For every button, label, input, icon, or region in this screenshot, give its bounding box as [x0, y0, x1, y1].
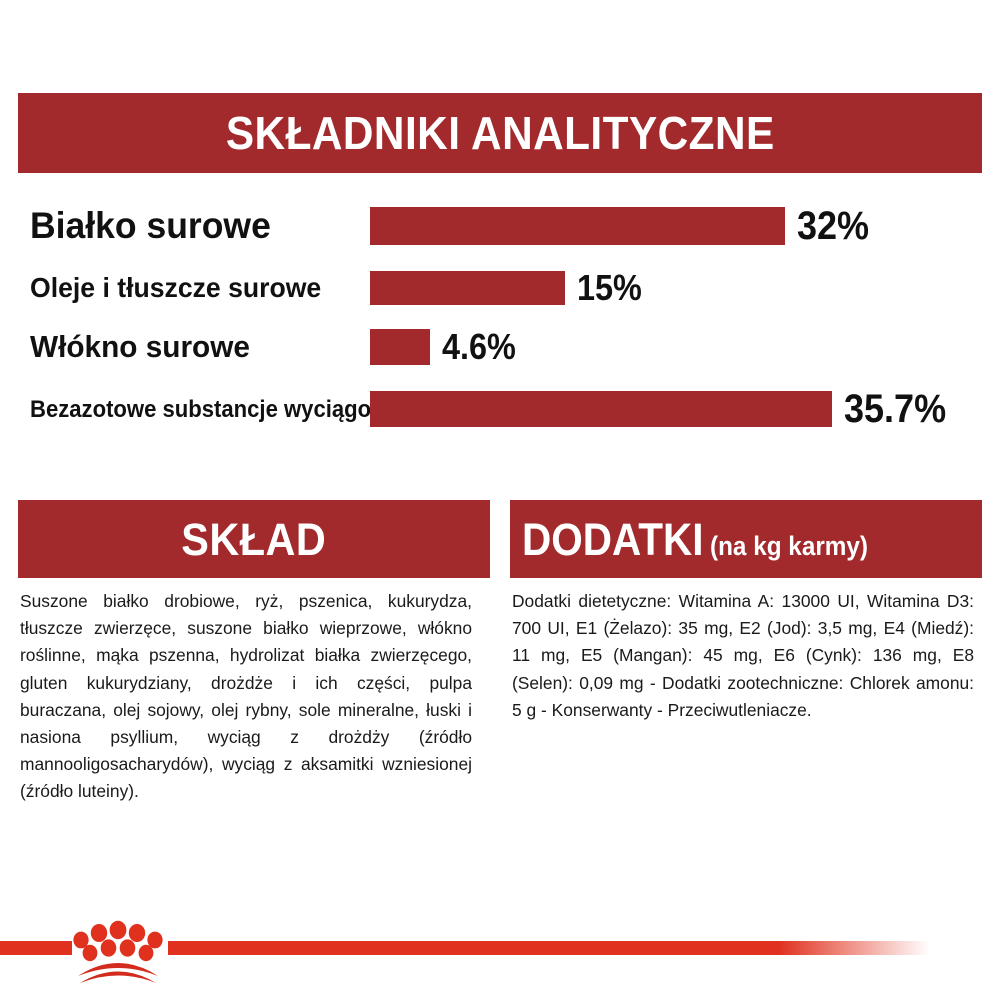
chart-row-label: Białko surowe: [30, 205, 271, 247]
chart-row: Białko surowe 32%: [0, 195, 1000, 257]
chart-bar-group: 4.6%: [370, 329, 524, 365]
composition-text: Suszone białko drobiowe, ryż, pszenica, …: [20, 588, 472, 806]
chart-row-label: Włókno surowe: [30, 329, 250, 365]
chart-value-label: 32%: [797, 204, 869, 249]
additives-title-qualifier: (na kg karmy): [710, 533, 868, 560]
additives-banner: DODATKI (na kg karmy): [510, 500, 982, 578]
chart-bar-group: 35.7%: [370, 391, 957, 427]
chart-bar-group: 15%: [370, 271, 649, 305]
chart-bar: [370, 329, 430, 365]
analytical-constituents-title: SKŁADNIKI ANALITYCZNE: [226, 110, 775, 156]
chart-row: Oleje i tłuszcze surowe 15%: [0, 261, 1000, 315]
royal-canin-crown-icon: [66, 920, 170, 984]
chart-bar: [370, 271, 565, 305]
chart-bar-group: 32%: [370, 207, 877, 245]
chart-value-label: 35.7%: [844, 387, 946, 432]
analytical-constituents-banner: SKŁADNIKI ANALITYCZNE: [18, 93, 982, 173]
chart-row-label: Bezazotowe substancje wyciągowe: [30, 396, 401, 424]
chart-row: Bezazotowe substancje wyciągowe 35.7%: [0, 381, 1000, 439]
additives-title: DODATKI: [522, 517, 703, 562]
chart-value-label: 4.6%: [442, 326, 516, 368]
composition-banner: SKŁAD: [18, 500, 490, 578]
product-info-panel: SKŁADNIKI ANALITYCZNE Białko surowe 32% …: [0, 0, 1000, 1000]
chart-row: Włókno surowe 4.6%: [0, 319, 1000, 375]
additives-text: Dodatki dietetyczne: Witamina A: 13000 U…: [512, 588, 974, 724]
composition-title: SKŁAD: [182, 517, 327, 562]
footer: [0, 920, 1000, 1000]
footer-rule-right: [168, 941, 930, 955]
footer-rule-left: [0, 941, 72, 955]
analytical-constituents-chart: Białko surowe 32% Oleje i tłuszcze surow…: [0, 195, 1000, 465]
chart-bar: [370, 391, 832, 427]
chart-row-label: Oleje i tłuszcze surowe: [30, 272, 321, 304]
chart-bar: [370, 207, 785, 245]
additives-title-row: DODATKI (na kg karmy): [522, 517, 885, 562]
chart-value-label: 15%: [577, 267, 642, 309]
